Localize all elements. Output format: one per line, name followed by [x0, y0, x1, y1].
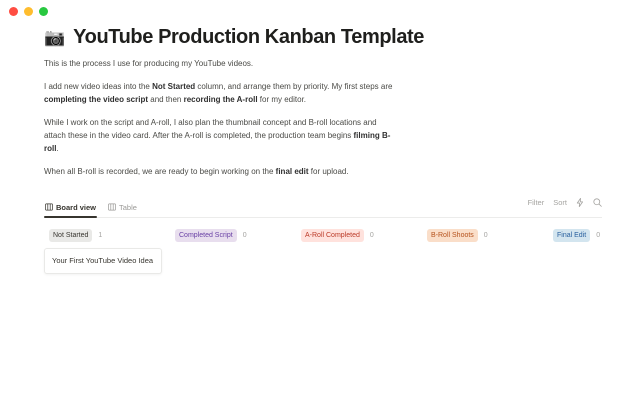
- column-card-count: 0: [484, 232, 488, 239]
- column-card-count: 1: [98, 232, 102, 239]
- maximize-window-button[interactable]: [39, 7, 48, 16]
- body-text: While I work on the script and A-roll, I…: [44, 118, 377, 140]
- paragraph: I add new video ideas into the Not Start…: [44, 81, 396, 107]
- body-text: for my editor.: [258, 95, 306, 104]
- minimize-window-button[interactable]: [24, 7, 33, 16]
- status-badge: A-Roll Completed: [301, 229, 364, 242]
- camera-emoji: 📷: [44, 29, 65, 46]
- page-description: This is the process I use for producing …: [44, 58, 602, 179]
- tab-label: Board view: [56, 203, 96, 212]
- page-header: 📷 YouTube Production Kanban Template: [44, 26, 602, 49]
- kanban-board: Not Started1Your First YouTube Video Ide…: [44, 229, 602, 275]
- kanban-column: Completed Script0: [170, 229, 296, 275]
- filter-button[interactable]: Filter: [528, 199, 545, 207]
- paragraph: While I work on the script and A-roll, I…: [44, 117, 396, 156]
- tab-label: Table: [119, 203, 137, 212]
- emphasis-text: final edit: [276, 167, 309, 176]
- column-header[interactable]: Not Started1: [44, 229, 170, 242]
- column-card-count: 0: [370, 232, 374, 239]
- body-text: for upload.: [309, 167, 349, 176]
- column-header[interactable]: A-Roll Completed0: [296, 229, 422, 242]
- status-badge: Final Edit: [553, 229, 590, 242]
- sort-button[interactable]: Sort: [553, 199, 567, 207]
- body-text: When all B-roll is recorded, we are read…: [44, 167, 276, 176]
- body-text: This is the process I use for producing …: [44, 59, 253, 68]
- status-badge: Completed Script: [175, 229, 237, 242]
- kanban-column: A-Roll Completed0: [296, 229, 422, 275]
- toolbar-actions: Filter Sort: [528, 194, 602, 217]
- body-text: I add new video ideas into the: [44, 82, 152, 91]
- emphasis-text: recording the A-roll: [184, 95, 258, 104]
- table-view-icon: [108, 203, 116, 211]
- kanban-column: Not Started1Your First YouTube Video Ide…: [44, 229, 170, 275]
- tab-table[interactable]: Table: [107, 200, 138, 217]
- view-toolbar: Board viewTable Filter Sort: [44, 194, 602, 218]
- paragraph: When all B-roll is recorded, we are read…: [44, 166, 396, 179]
- column-header[interactable]: Final Edit0: [548, 229, 640, 242]
- kanban-column: B-Roll Shoots0: [422, 229, 548, 275]
- body-text: .: [56, 144, 58, 153]
- page-title: YouTube Production Kanban Template: [73, 26, 424, 49]
- status-badge: Not Started: [49, 229, 92, 242]
- body-text: and then: [148, 95, 184, 104]
- column-header[interactable]: Completed Script0: [170, 229, 296, 242]
- column-card-count: 0: [596, 232, 600, 239]
- tab-board-view[interactable]: Board view: [44, 200, 97, 217]
- status-badge: B-Roll Shoots: [427, 229, 478, 242]
- body-text: column, and arrange them by priority. My…: [195, 82, 392, 91]
- board-view-icon: [45, 203, 53, 211]
- emphasis-text: Not Started: [152, 82, 195, 91]
- paragraph: This is the process I use for producing …: [44, 58, 396, 71]
- automation-lightning-icon[interactable]: [576, 194, 584, 212]
- page-content: 📷 YouTube Production Kanban Template Thi…: [0, 26, 640, 274]
- window-title-bar: [0, 0, 640, 22]
- column-cards: Your First YouTube Video Idea: [44, 248, 170, 275]
- column-card-count: 0: [243, 232, 247, 239]
- column-header[interactable]: B-Roll Shoots0: [422, 229, 548, 242]
- emphasis-text: completing the video script: [44, 95, 148, 104]
- search-icon[interactable]: [593, 194, 602, 212]
- view-tabs: Board viewTable: [44, 200, 138, 217]
- kanban-card[interactable]: Your First YouTube Video Idea: [44, 248, 162, 275]
- close-window-button[interactable]: [9, 7, 18, 16]
- kanban-column: Final Edit0: [548, 229, 640, 275]
